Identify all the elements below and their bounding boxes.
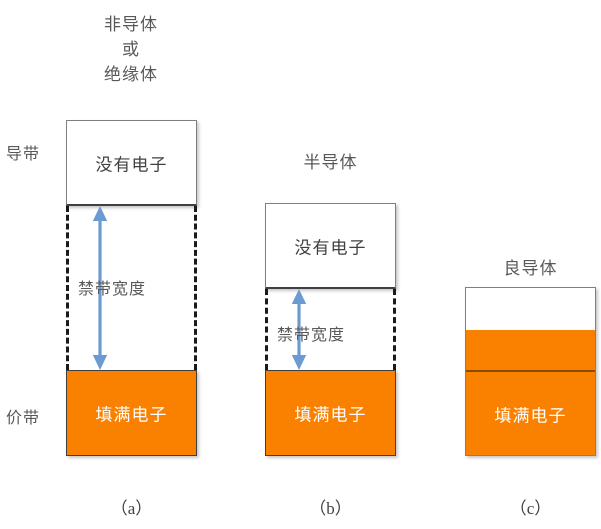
panel-b-valence-band-label: 填满电子 [266, 401, 395, 426]
panel-b-title: 半导体 [265, 150, 396, 175]
panel-c-band-box: 填满电子 [465, 287, 596, 456]
panel-a-valence-band-box: 填满电子 [66, 370, 197, 456]
panel-a-valence-band-label: 填满电子 [67, 401, 196, 426]
side-label-valence-band: 价带 [6, 404, 40, 428]
panel-c-title: 良导体 [465, 256, 596, 281]
panel-c-conduction-overlap-fill [466, 330, 595, 371]
side-label-conduction-band: 导带 [6, 140, 40, 164]
energy-band-diagram: 非导体 或 绝缘体 导带 价带 没有电子 禁带宽度 填满电子 （a） 半导体 没… [0, 0, 601, 529]
panel-a-conduction-band-box: 没有电子 [66, 120, 197, 206]
panel-b-conduction-band-box: 没有电子 [265, 203, 396, 289]
panel-a-title: 非导体 或 绝缘体 [36, 12, 226, 87]
panel-b-valence-band-box: 填满电子 [265, 370, 396, 456]
panel-c-caption: （c） [465, 494, 596, 519]
panel-c-valence-band-label: 填满电子 [466, 401, 595, 426]
panel-a-conduction-band-label: 没有电子 [67, 150, 196, 175]
panel-c-valence-band-fill: 填满电子 [466, 372, 595, 455]
panel-a-band-gap-label: 禁带宽度 [78, 275, 146, 299]
panel-b-conduction-band-label: 没有电子 [266, 233, 395, 258]
panel-b-caption: （b） [265, 494, 396, 519]
panel-b-band-gap-label: 禁带宽度 [277, 321, 345, 345]
panel-a-caption: （a） [66, 494, 197, 519]
